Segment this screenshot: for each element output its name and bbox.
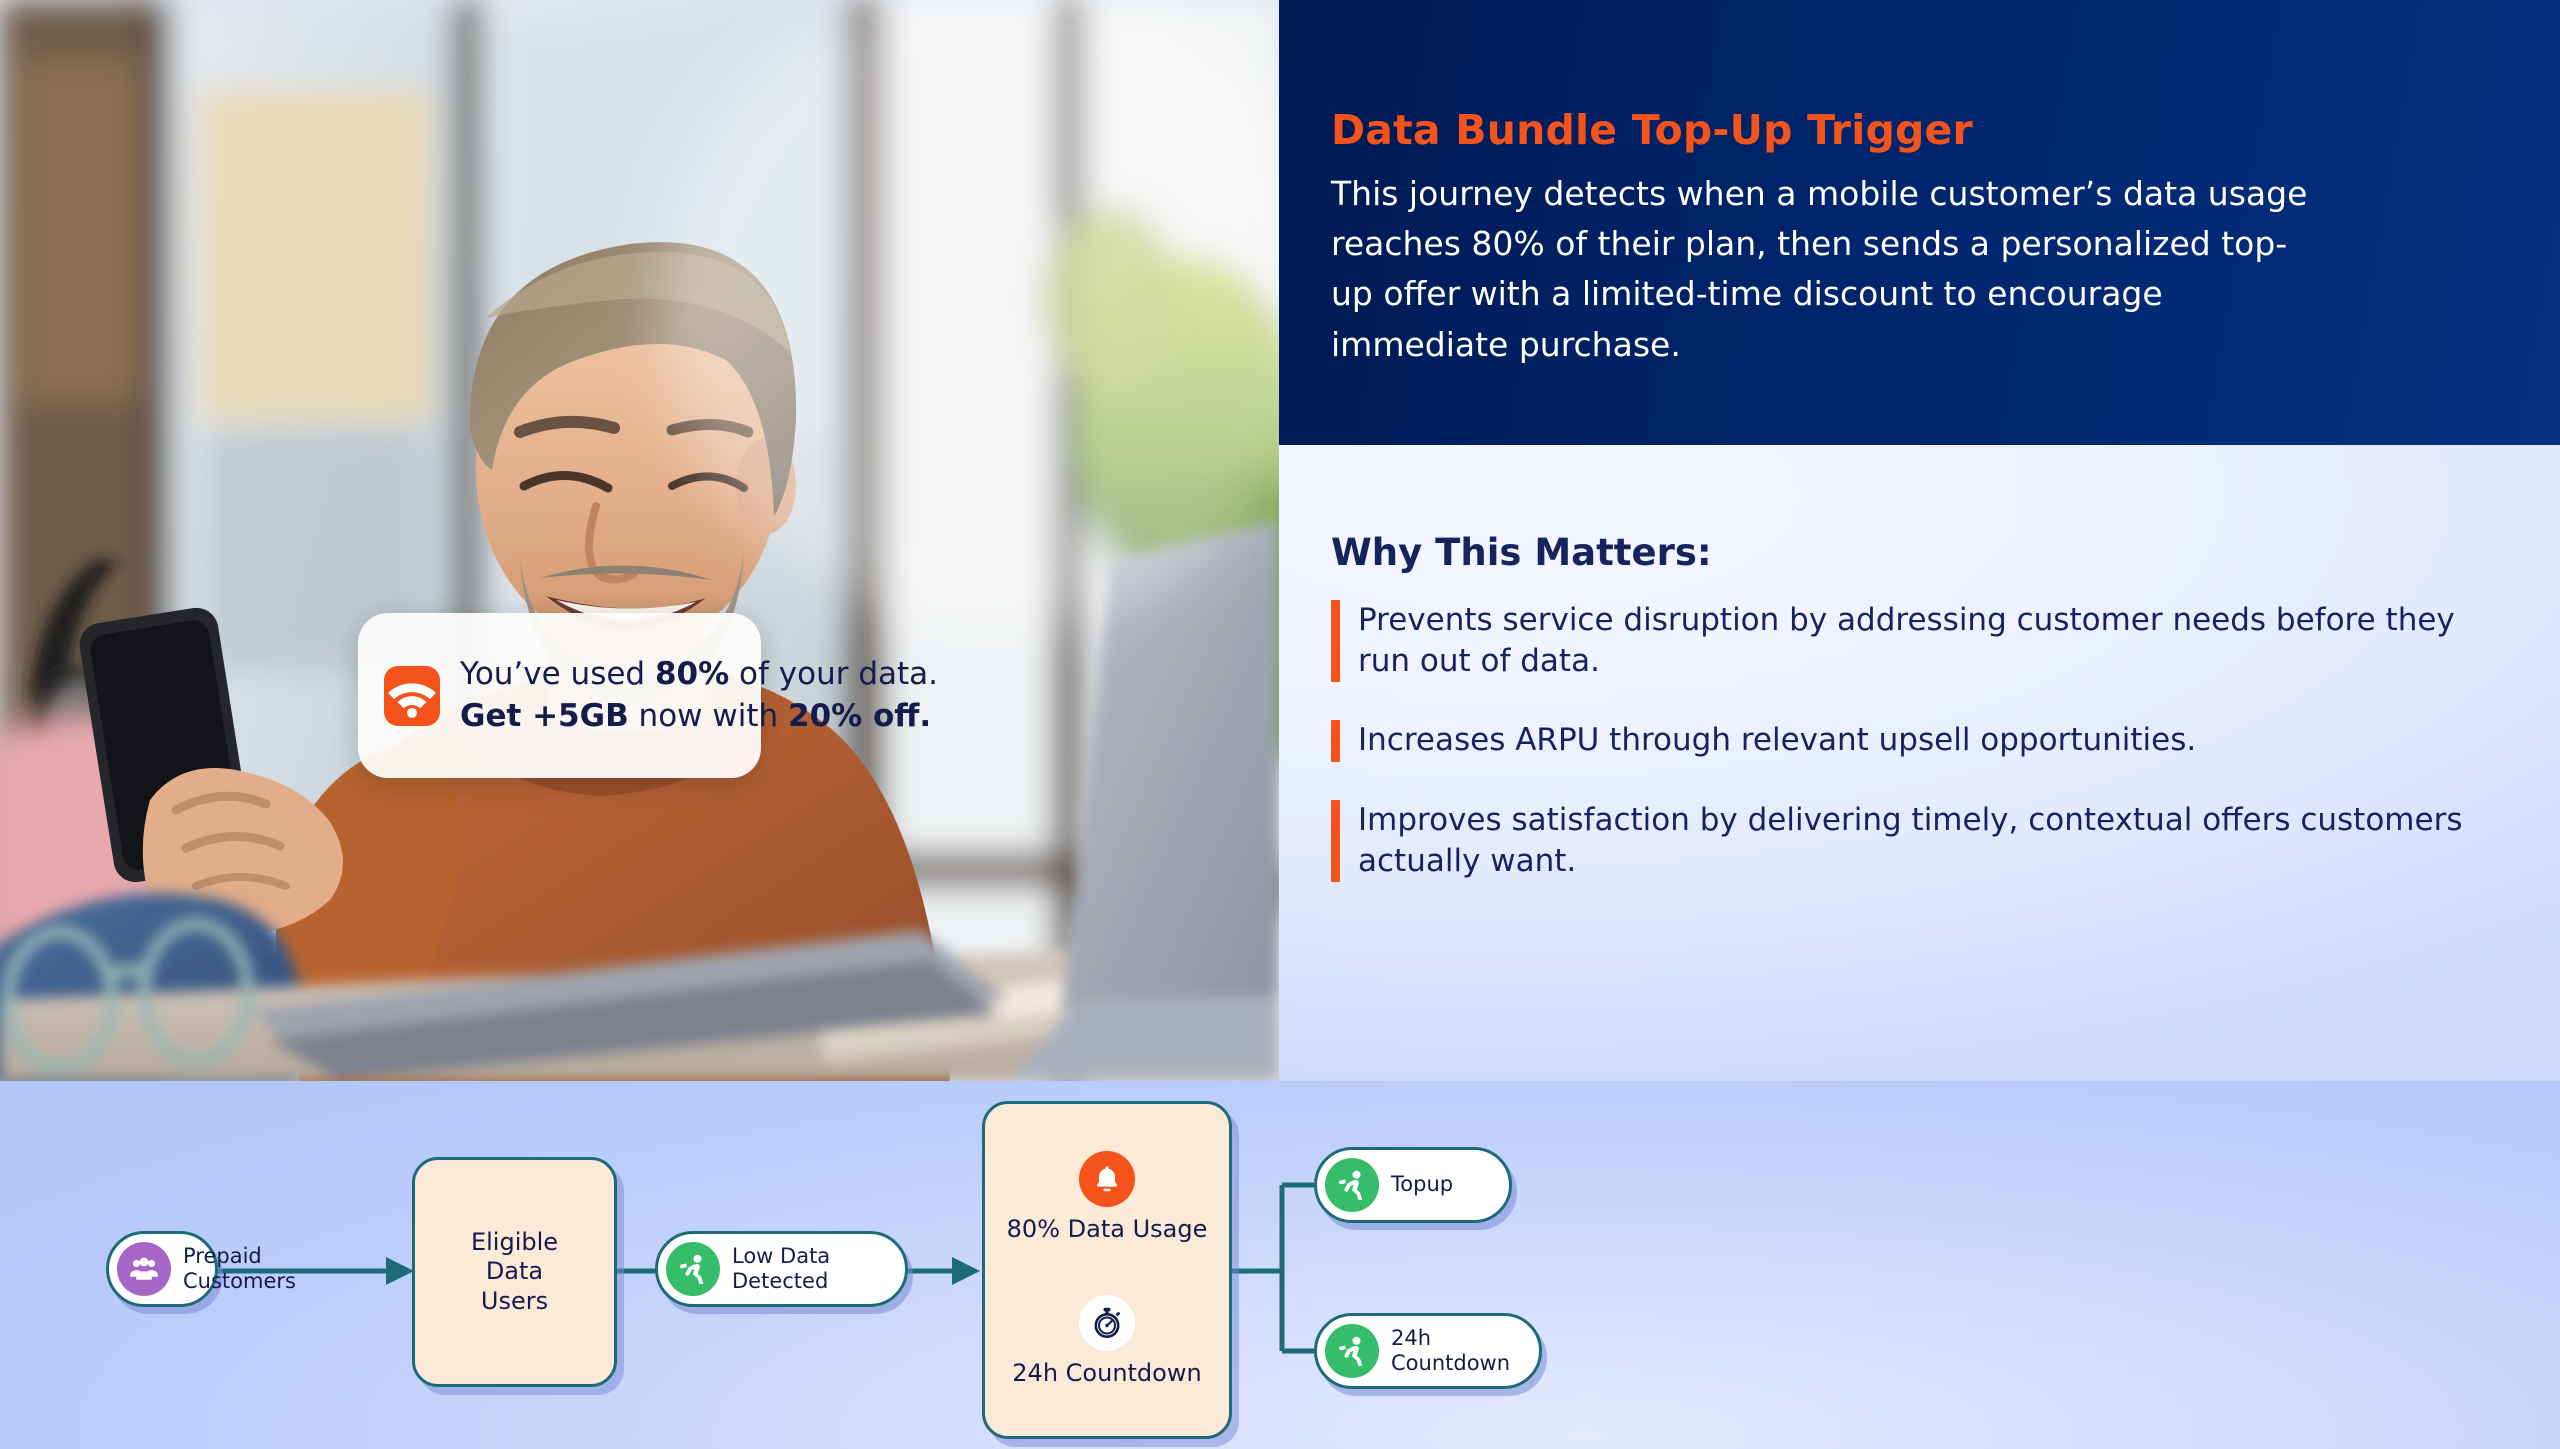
flow-connectors (0, 1081, 2560, 1449)
flow-node-label: Eligible Data Users (471, 1228, 558, 1316)
stopwatch-icon (1079, 1295, 1135, 1351)
flow-node-low-data-detected[interactable]: Low Data Detected (655, 1231, 908, 1307)
accent-bar (1331, 720, 1340, 761)
matters-item: Increases ARPU through relevant upsell o… (1331, 720, 2490, 761)
notification-line-1: You’ve used 80% of your data. (460, 655, 938, 695)
flow-node-label: 80% Data Usage (1007, 1215, 1208, 1244)
notif-line2-strong: Get +5GB (460, 698, 629, 734)
people-group-icon (117, 1242, 171, 1296)
notif-line2-mid: now with (629, 698, 788, 734)
matters-item-text: Improves satisfaction by delivering time… (1358, 800, 2490, 882)
matters-item-text: Prevents service disruption by addressin… (1358, 600, 2490, 682)
slide-canvas: You’ve used 80% of your data. Get +5GB n… (0, 0, 2560, 1449)
data-usage-notification-card[interactable]: You’ve used 80% of your data. Get +5GB n… (358, 613, 761, 778)
why-this-matters-panel: Why This Matters: Prevents service disru… (1279, 445, 2560, 1081)
notif-line1-suffix: of your data. (729, 656, 938, 692)
flow-node-eligible-data-users[interactable]: Eligible Data Users (412, 1157, 617, 1387)
hero-photo-illustration (0, 0, 1279, 1081)
page-title: Data Bundle Top-Up Trigger (1331, 108, 2480, 153)
notification-line-2: Get +5GB now with 20% off. (460, 697, 938, 737)
flow-node-label: Prepaid Customers (183, 1244, 296, 1294)
flow-node-prepaid-customers[interactable]: Prepaid Customers (106, 1231, 218, 1307)
notif-line2-strong2: 20% off. (788, 698, 931, 734)
running-person-icon (1325, 1324, 1379, 1378)
running-person-icon (1325, 1158, 1379, 1212)
header-description: This journey detects when a mobile custo… (1331, 169, 2321, 370)
journey-flow-band: Prepaid Customers Eligible Data Users Lo… (0, 1081, 2560, 1449)
flow-node-label: 24h Countdown (1012, 1359, 1201, 1388)
flow-node-label: Low Data Detected (732, 1244, 830, 1294)
header-panel: Data Bundle Top-Up Trigger This journey … (1279, 0, 2560, 445)
accent-bar (1331, 600, 1340, 682)
flow-node-topup[interactable]: Topup (1314, 1147, 1512, 1223)
matters-item: Prevents service disruption by addressin… (1331, 600, 2490, 682)
running-person-icon (666, 1242, 720, 1296)
why-this-matters-title: Why This Matters: (1331, 531, 2490, 574)
matters-item: Improves satisfaction by delivering time… (1331, 800, 2490, 882)
flow-node-label: Topup (1391, 1172, 1453, 1197)
flow-node-trigger-offer[interactable]: 80% Data Usage 24h (982, 1101, 1232, 1439)
matters-item-text: Increases ARPU through relevant upsell o… (1358, 720, 2196, 761)
bell-icon (1079, 1151, 1135, 1207)
accent-bar (1331, 800, 1340, 882)
flow-node-24h-countdown[interactable]: 24h Countdown (1314, 1313, 1542, 1389)
hero-photo: You’ve used 80% of your data. Get +5GB n… (0, 0, 1279, 1081)
notif-line1-strong: 80% (655, 656, 729, 692)
flow-node-label: 24h Countdown (1391, 1326, 1510, 1376)
notif-line1-prefix: You’ve used (460, 656, 655, 692)
wifi-icon (384, 666, 440, 726)
